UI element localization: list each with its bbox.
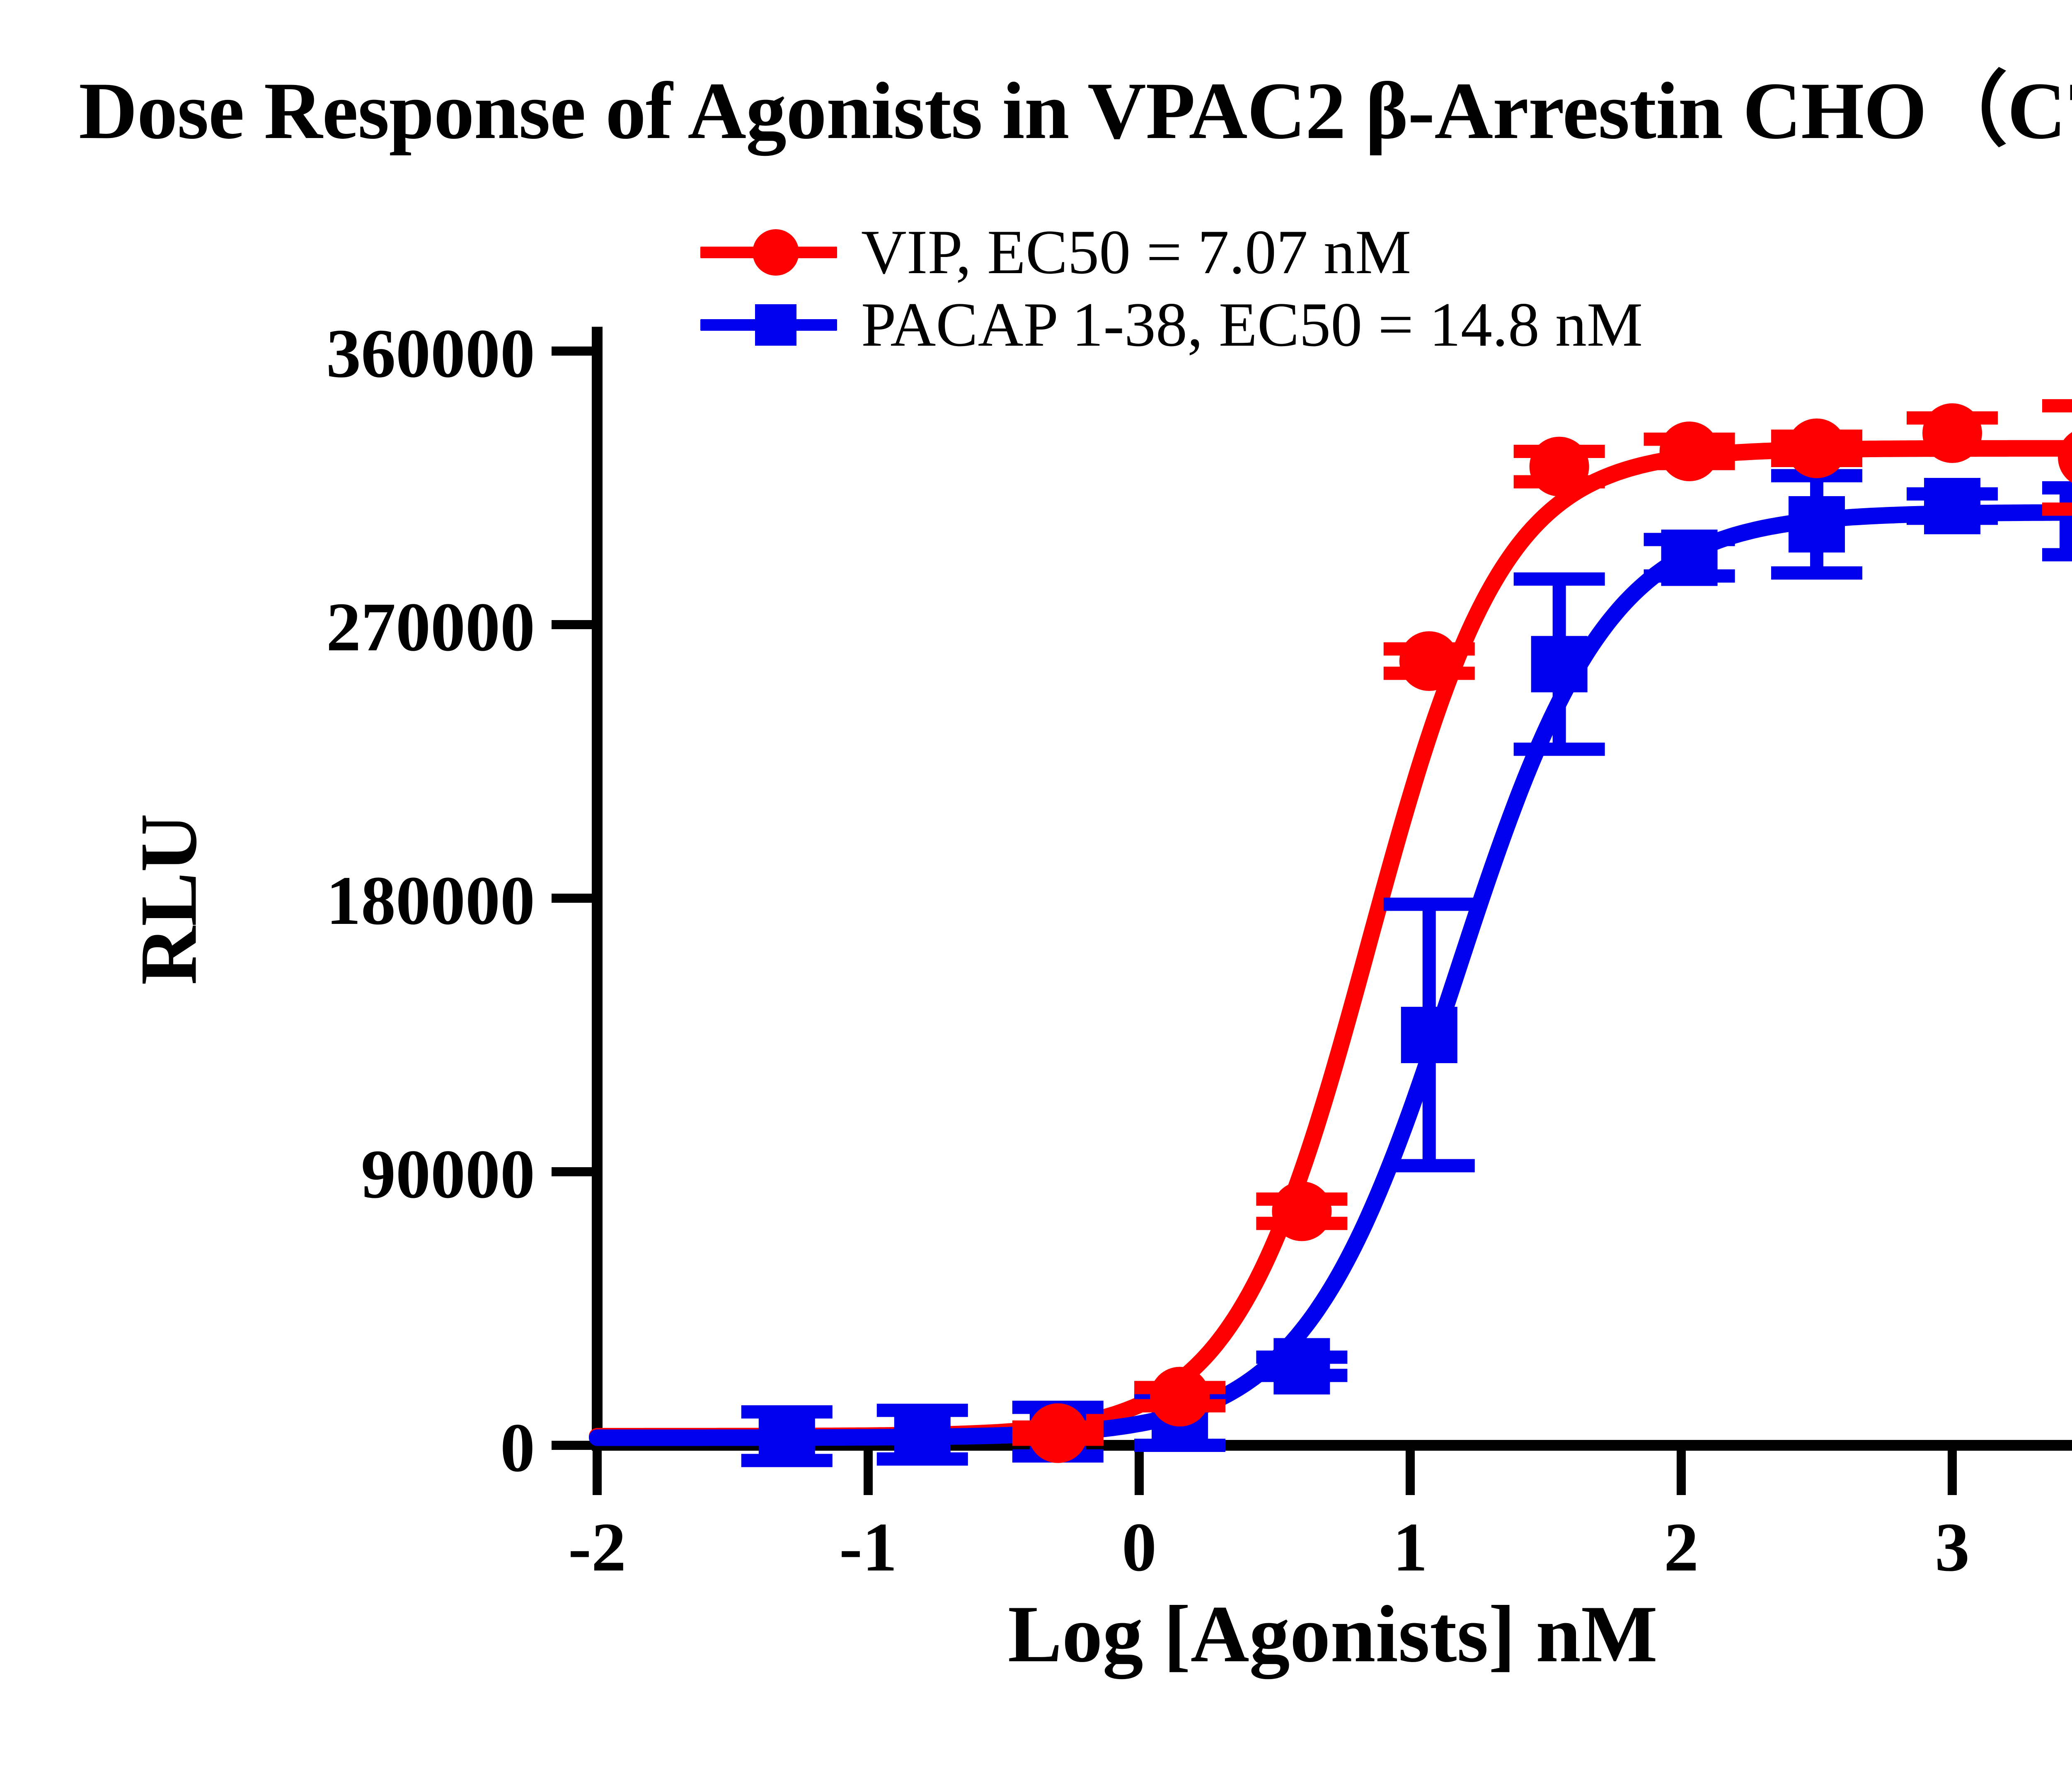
- data-point-marker[interactable]: [1150, 1367, 1210, 1427]
- data-point-marker[interactable]: [1924, 478, 1980, 534]
- data-point-marker[interactable]: [1661, 530, 1718, 586]
- data-point-marker[interactable]: [2060, 493, 2072, 550]
- data-point-marker[interactable]: [2058, 428, 2072, 487]
- data-point-marker[interactable]: [1028, 1403, 1088, 1463]
- fit-curve-pacap: [597, 512, 2072, 1437]
- data-point-marker[interactable]: [1787, 419, 1847, 478]
- data-point-marker[interactable]: [1531, 636, 1588, 692]
- data-point-marker[interactable]: [1401, 1007, 1457, 1063]
- chart-figure: Dose Response of Agonists in VPAC2 β-Arr…: [0, 0, 2072, 1774]
- data-point-marker[interactable]: [894, 1406, 951, 1463]
- data-point-marker[interactable]: [1272, 1181, 1331, 1241]
- data-point-marker[interactable]: [1273, 1338, 1330, 1394]
- data-point-marker[interactable]: [1922, 403, 1982, 463]
- data-point-marker[interactable]: [1530, 437, 1589, 497]
- data-point-marker[interactable]: [759, 1408, 815, 1464]
- data-point-marker[interactable]: [1660, 422, 1719, 481]
- data-point-marker[interactable]: [1789, 496, 1845, 553]
- plot-area: [0, 0, 2072, 1774]
- data-point-marker[interactable]: [1399, 631, 1459, 691]
